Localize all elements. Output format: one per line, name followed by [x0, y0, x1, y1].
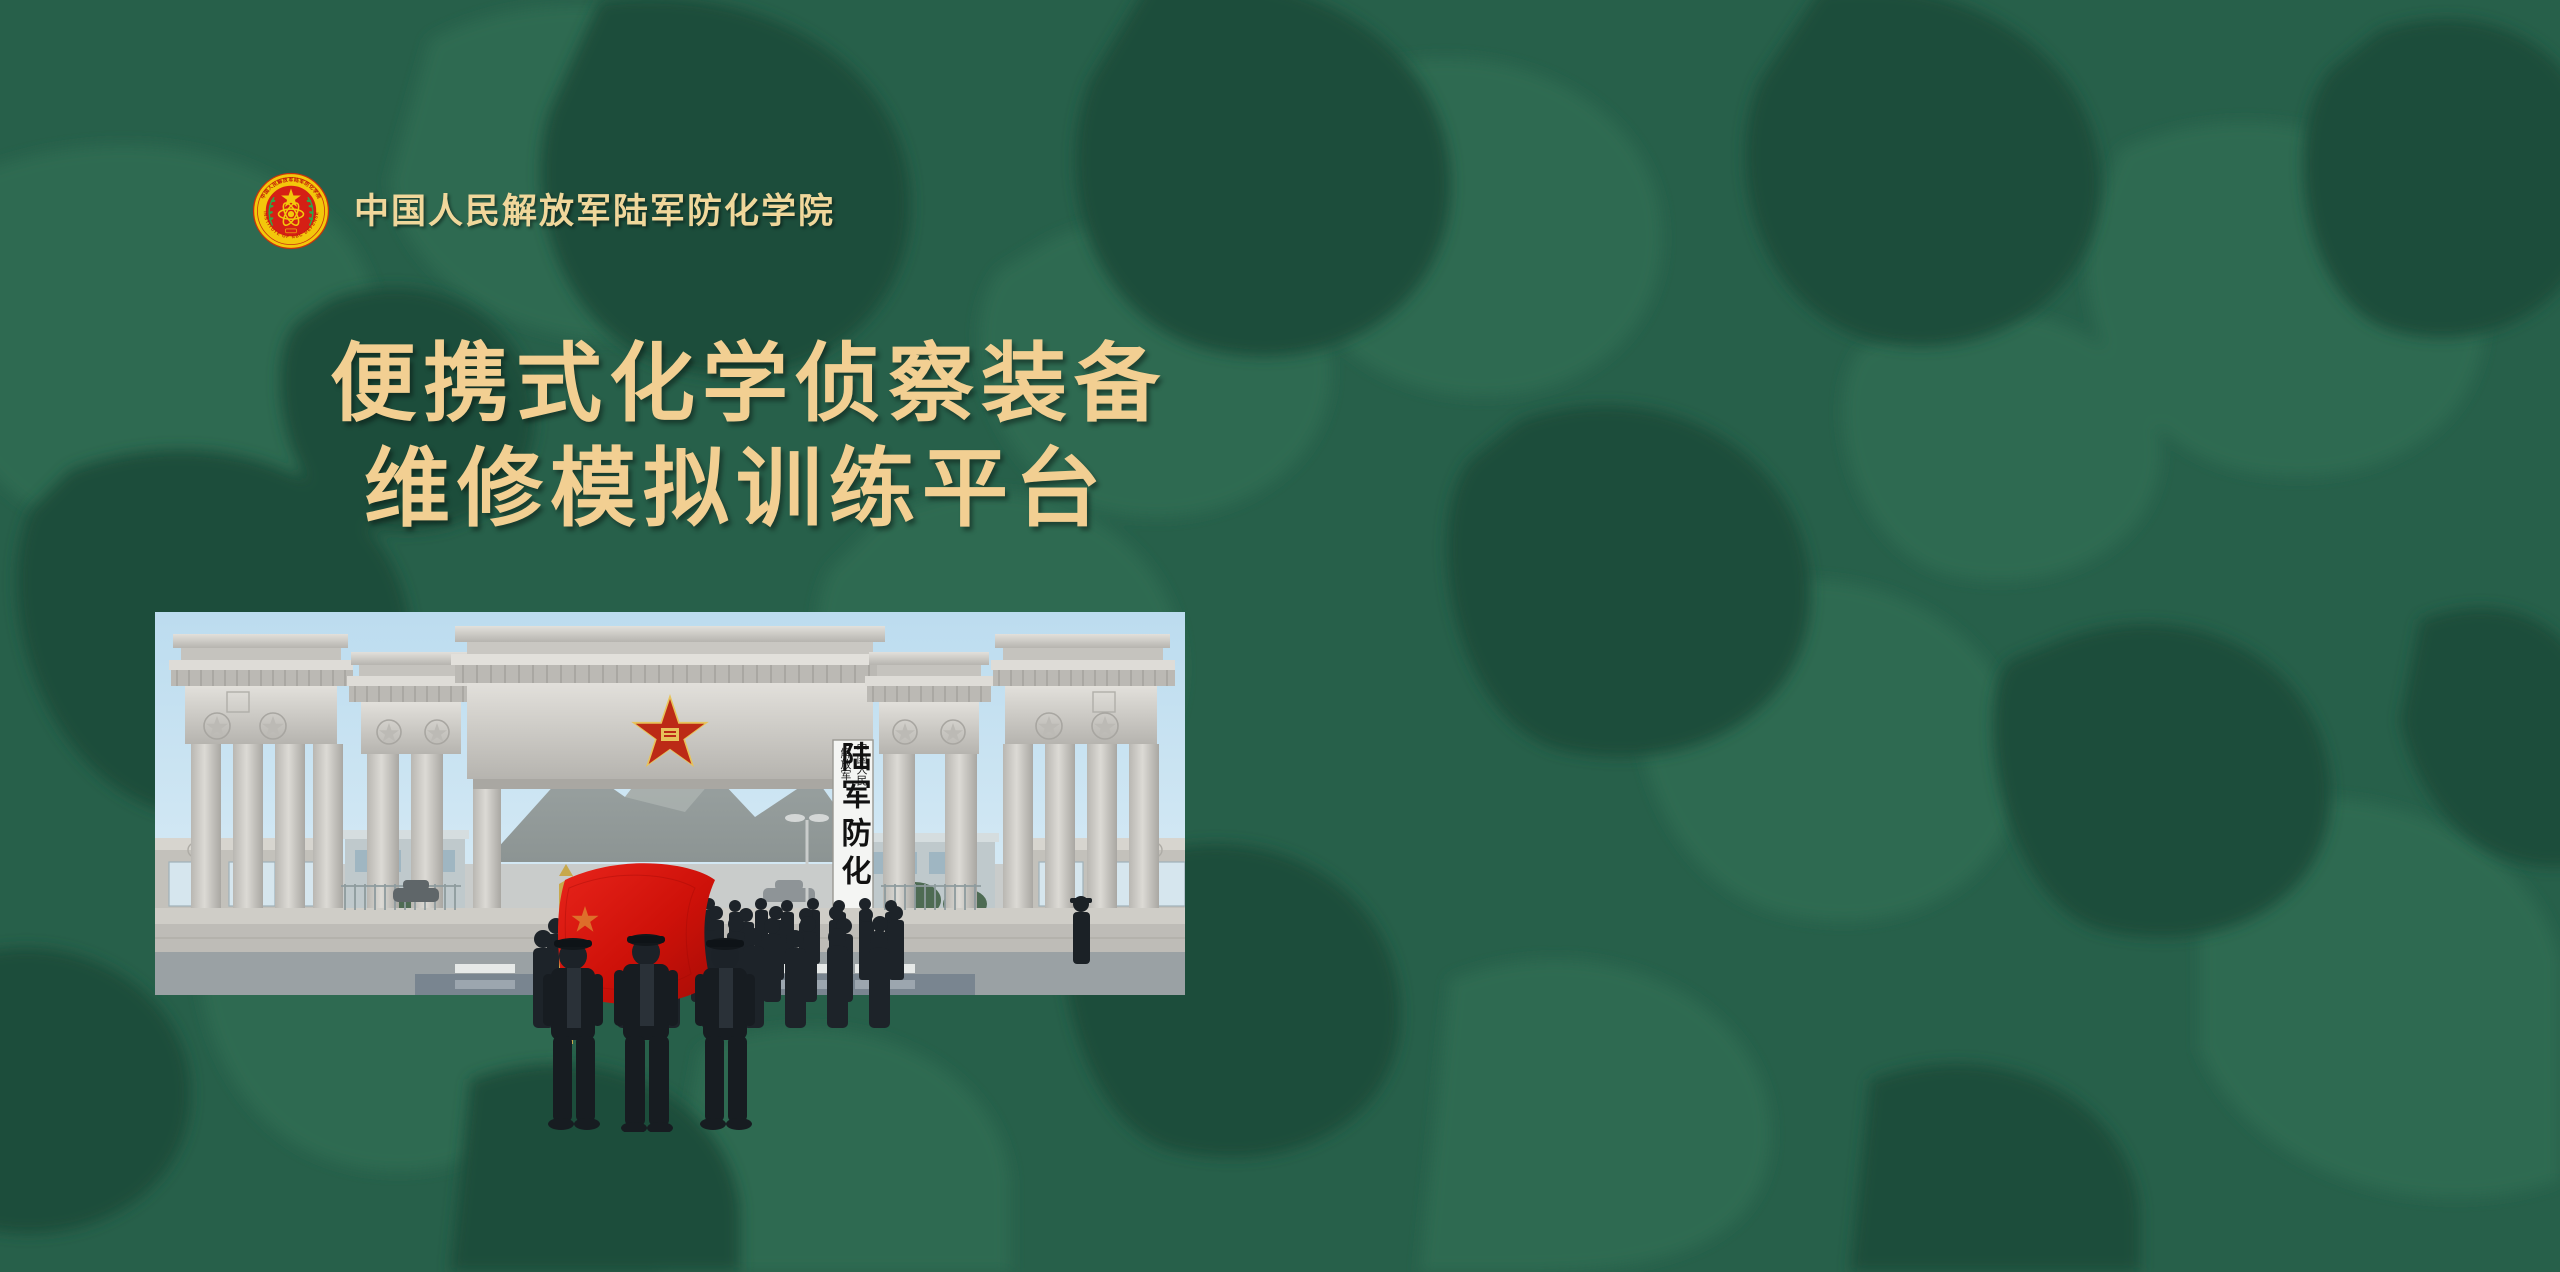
brand-header: 中国人民解放军陆军防化学院 INSTITUTE OF NBC DEFENSE	[252, 172, 835, 250]
academy-gate-parade-photo: 中国人民 解放军 陆军防化	[155, 612, 1185, 1132]
svg-text:陆军防化: 陆军防化	[837, 741, 872, 893]
page-title-line-2: 维修模拟训练平台	[330, 437, 1167, 542]
page-title-line-1: 便携式化学侦察装备	[330, 332, 1167, 437]
academy-name-label: 中国人民解放军陆军防化学院	[354, 194, 835, 229]
nbc-defense-academy-emblem-icon: 中国人民解放军陆军防化学院 INSTITUTE OF NBC DEFENSE	[252, 172, 330, 250]
page-title: 便携式化学侦察装备 维修模拟训练平台	[330, 332, 1167, 542]
